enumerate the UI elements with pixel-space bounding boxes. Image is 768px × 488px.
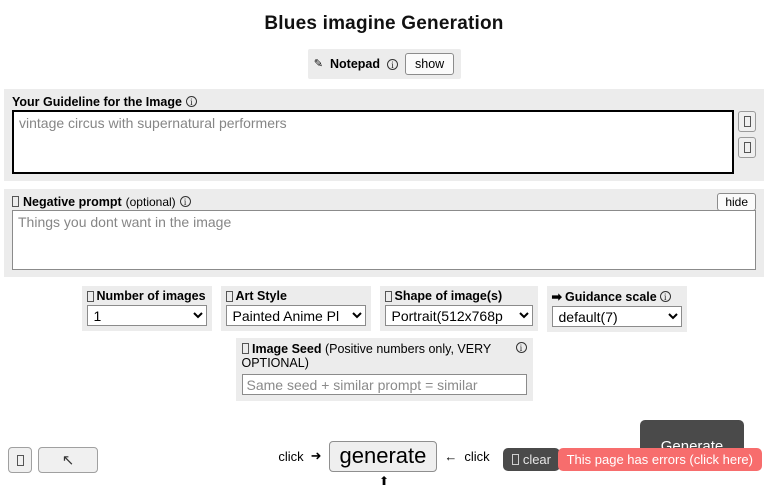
image-seed-panel: Image Seed (Positive numbers only, VERY …: [236, 338, 533, 401]
number-of-images-label: Number of images: [97, 289, 206, 303]
image-seed-input[interactable]: [242, 374, 527, 395]
art-style-select[interactable]: Painted Anime Pl: [226, 305, 366, 326]
info-icon[interactable]: i: [180, 196, 191, 207]
guideline-side-buttons: [738, 110, 756, 158]
guideline-label-group: Your Guideline for the Image i: [12, 95, 197, 109]
arrow-up-icon: ⬆: [379, 474, 389, 488]
glyph-box-icon: [226, 291, 233, 302]
glyph-box-icon: [385, 291, 392, 302]
arrow-right-icon: ➡: [552, 289, 562, 304]
glyph-box-icon: [12, 196, 19, 207]
negative-prompt-label-group: Negative prompt (optional) i: [12, 195, 191, 209]
shape-of-images-label: Shape of image(s): [395, 289, 503, 303]
page-errors-banner[interactable]: This page has errors (click here): [558, 448, 762, 471]
negative-prompt-optional: (optional): [126, 195, 176, 209]
notepad-label: Notepad: [330, 57, 380, 71]
image-seed-label-group: Image Seed (Positive numbers only, VERY …: [242, 342, 492, 370]
guideline-label: Your Guideline for the Image: [12, 95, 182, 109]
art-style-label-group: Art Style: [226, 289, 366, 303]
guidance-scale-label: Guidance scale: [565, 290, 657, 304]
negative-prompt-input-row: [12, 210, 756, 270]
negative-prompt-textarea[interactable]: [12, 210, 756, 270]
glyph-box-icon: [242, 343, 249, 354]
guideline-textarea[interactable]: [12, 110, 734, 174]
info-icon[interactable]: i: [516, 342, 527, 353]
negative-prompt-hide-button[interactable]: hide: [717, 193, 756, 211]
generate-small-button[interactable]: generate: [329, 441, 438, 472]
option-number-of-images: Number of images 1: [82, 286, 212, 331]
notepad-show-button[interactable]: show: [405, 53, 454, 75]
info-icon[interactable]: i: [186, 96, 197, 107]
clear-button[interactable]: clear: [503, 448, 560, 471]
hint-right: click: [464, 449, 489, 464]
negative-prompt-panel: Negative prompt (optional) i hide: [4, 189, 764, 277]
negative-prompt-header: Negative prompt (optional) i hide: [12, 193, 756, 210]
option-guidance-scale: ➡ Guidance scale i default(7): [547, 286, 687, 332]
guideline-panel: Your Guideline for the Image i: [4, 89, 764, 181]
guidance-scale-label-group: ➡ Guidance scale i: [552, 289, 682, 304]
image-seed-section: Image Seed (Positive numbers only, VERY …: [0, 338, 768, 401]
glyph-box-button-1[interactable]: [738, 111, 756, 132]
option-shape-of-images: Shape of image(s) Portrait(512x768p: [380, 286, 538, 331]
generate-inner: click ➜ generate ← click ⬆: [278, 441, 489, 472]
glyph-box-icon: [744, 142, 751, 153]
hint-left: click: [278, 449, 303, 464]
arrow-left-icon: ←: [444, 449, 457, 464]
guideline-header: Your Guideline for the Image i: [12, 93, 756, 110]
pen-icon: ✎: [314, 59, 323, 70]
options-row: Number of images 1 Art Style Painted Ani…: [0, 286, 768, 332]
art-style-label: Art Style: [236, 289, 287, 303]
shape-of-images-select[interactable]: Portrait(512x768p: [385, 305, 533, 326]
image-seed-header: Image Seed (Positive numbers only, VERY …: [242, 342, 527, 370]
negative-prompt-label: Negative prompt: [23, 195, 122, 209]
guideline-input-row: [12, 110, 756, 174]
info-icon[interactable]: i: [387, 59, 398, 70]
bottom-bar: ↖ click ➜ generate ← click ⬆ Generate cl…: [0, 420, 768, 480]
notepad-bar: ✎ Notepad i show: [308, 49, 461, 79]
clear-label: clear: [523, 452, 551, 467]
number-of-images-select[interactable]: 1: [87, 305, 207, 326]
page-title: Blues imagine Generation: [0, 0, 768, 35]
shape-of-images-label-group: Shape of image(s): [385, 289, 533, 303]
glyph-box-icon: [512, 454, 519, 465]
image-seed-label: Image Seed: [252, 342, 321, 356]
arrow-right-icon: ➜: [311, 448, 322, 464]
number-of-images-label-group: Number of images: [87, 289, 207, 303]
glyph-box-icon: [744, 116, 751, 127]
glyph-box-button-2[interactable]: [738, 137, 756, 158]
guidance-scale-select[interactable]: default(7): [552, 306, 682, 327]
glyph-box-icon: [87, 291, 94, 302]
info-icon[interactable]: i: [660, 291, 671, 302]
option-art-style: Art Style Painted Anime Pl: [221, 286, 371, 331]
